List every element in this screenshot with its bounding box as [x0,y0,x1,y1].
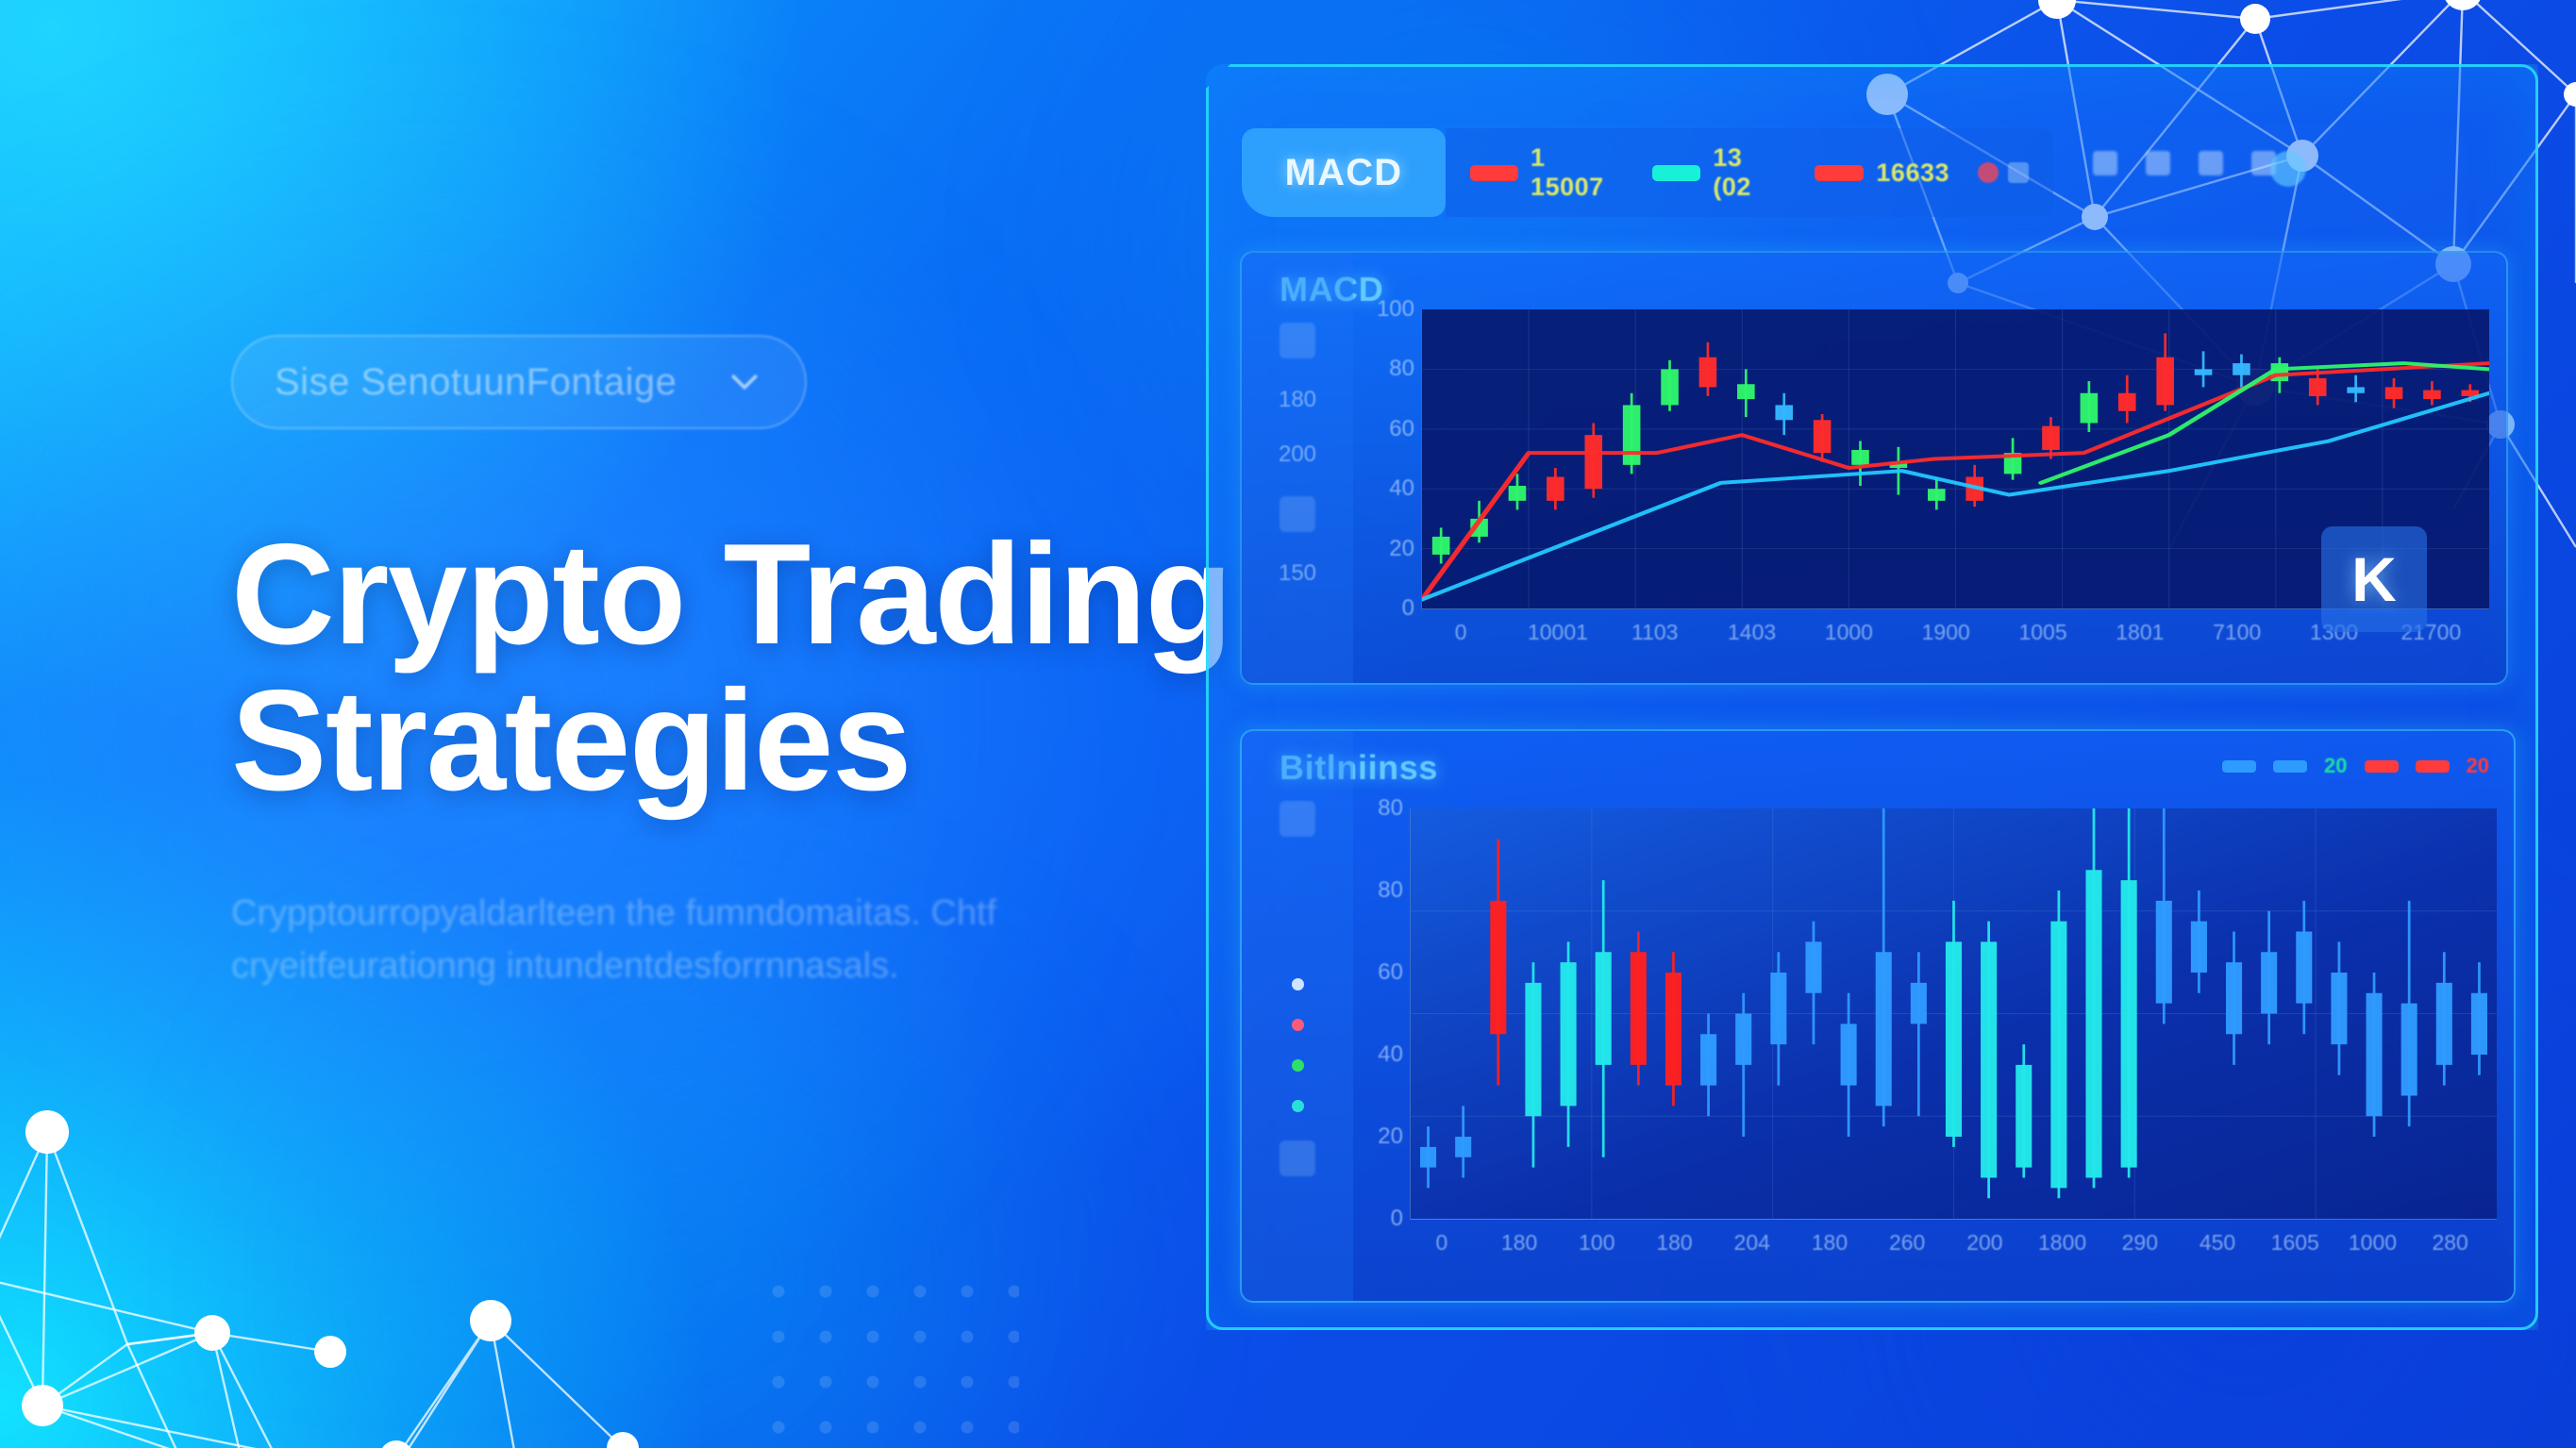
page-subtitle: Crypptourropyaldarlteen the fumndomaitas… [231,888,1052,992]
caret-left-icon[interactable] [2199,151,2223,175]
axis-tick-label: 60 [1389,416,1414,442]
axis-tick-label: 200 [1966,1230,2002,1256]
symbol-badge-k-label: K [2351,543,2397,615]
axis-tick-label: 80 [1378,795,1403,822]
trading-dashboard: MACD 1 15007 13 (02 16633 [1206,64,2538,1330]
panel-macd-sidebar: 180 200 150 [1242,253,1353,683]
toolbar-legend-item: 1 15007 [1470,143,1624,202]
toolbar-legend-strip: 1 15007 13 (02 16633 [1446,128,2053,217]
legend-swatch [2273,760,2307,773]
chart-icon[interactable] [1280,1140,1315,1176]
bg-glow-bottom-left [113,924,1246,1448]
axis-tick-label: 1900 [1922,620,1970,645]
sidebar-value: 200 [1279,441,1316,468]
legend-swatch [2222,760,2256,773]
axis-tick-label: 1103 [1631,620,1678,645]
axis-tick-label: 40 [1389,475,1414,502]
axis-tick-label: 80 [1378,877,1403,904]
axis-tick-label: 1801 [2116,620,2164,645]
legend-swatch [1815,165,1864,181]
axis-tick-label: 180 [1812,1230,1848,1256]
axis-tick-label: 100 [1377,296,1414,323]
legend-swatch [1470,165,1518,181]
page-subtitle-line-2: cryeitfeurationng intundentdesforrnnasal… [231,940,1052,992]
category-dropdown-label: Sise SenotuunFontaige [275,361,726,404]
poster-canvas: Sise SenotuunFontaige Crypto Trading Str… [0,0,2576,1448]
legend-value: 20 [2467,754,2489,778]
panel-volume: Bitlniinss 20 20 80806040200 01801001802 [1240,729,2516,1303]
toolbar-control-icons [2093,151,2276,175]
dot-grid-pattern [755,1269,1019,1439]
axis-tick-label: 0 [1435,1230,1447,1256]
square-icon[interactable] [2008,162,2029,183]
legend-value: 16633 [1876,158,1949,188]
node-network-bottom-left [0,1080,717,1448]
axis-tick-label: 260 [1889,1230,1925,1256]
axis-tick-label: 290 [2122,1230,2158,1256]
panel-volume-sidebar [1242,731,1353,1301]
axis-tick-label: 100 [1579,1230,1614,1256]
legend-value: 20 [2324,754,2347,778]
sidebar-value: 150 [1279,560,1316,587]
axis-tick-label: 1005 [2018,620,2066,645]
legend-value: 1 15007 [1531,143,1624,202]
toolbar-legend-item: 13 (02 [1652,143,1786,202]
dot-icon[interactable] [1978,162,1999,183]
toolbar-legend-item: 16633 [1815,158,1949,188]
axis-tick-label: 450 [2200,1230,2235,1256]
cloud-icon[interactable] [2146,151,2170,175]
macd-y-axis: 100806040200 [1358,309,1414,608]
legend-swatch [1652,165,1700,181]
axis-tick-label: 0 [1455,620,1467,645]
axis-tick-label: 80 [1389,356,1414,382]
caret-left-icon[interactable] [2093,151,2117,175]
axis-tick-label: 0 [1391,1206,1403,1232]
axis-tick-label: 280 [2432,1230,2467,1256]
tab-macd-label: MACD [1285,152,1403,194]
category-dropdown[interactable]: Sise SenotuunFontaige [231,335,807,429]
axis-tick-label: 0 [1402,595,1414,622]
toolbar-icon-group [1978,162,2029,183]
page-subtitle-line-1: Crypptourropyaldarlteen the fumndomaitas… [231,888,1052,940]
panel-macd: MACD 180 200 150 100806040200 0100011103… [1240,251,2508,685]
chevron-down-icon [726,363,763,401]
axis-tick-label: 40 [1378,1041,1403,1068]
menu-icon[interactable] [1280,801,1315,837]
panel-volume-legend: 20 20 [2222,754,2489,778]
legend-swatch [2416,760,2450,773]
legend-swatch [2365,760,2399,773]
axis-tick-label: 1800 [2038,1230,2086,1256]
status-dot-icon [1292,978,1304,990]
axis-tick-label: 1605 [2271,1230,2319,1256]
axis-tick-label: 60 [1378,959,1403,986]
status-dot-icon [1292,1100,1304,1112]
volume-plot-area: 80806040200 0180100180204180260200180029… [1410,808,2497,1220]
axis-tick-label: 180 [1656,1230,1692,1256]
axis-tick-label: 20 [1378,1123,1403,1150]
axis-tick-label: 10001 [1528,620,1588,645]
status-dot-icon [1292,1059,1304,1072]
volume-x-axis: 0180100180204180260200180029045016051000… [1411,1230,2497,1268]
status-dot-icon [1292,1019,1304,1031]
chart-icon[interactable] [1280,496,1315,532]
tab-macd[interactable]: MACD [1242,128,1446,217]
sidebar-value: 180 [1279,387,1316,413]
axis-tick-label: 7100 [2213,620,2261,645]
volume-candlestick-chart [1411,808,2497,1219]
status-dot-icon [2270,151,2306,187]
axis-tick-label: 180 [1501,1230,1537,1256]
axis-tick-label: 20 [1389,536,1414,562]
axis-tick-label: 1403 [1728,620,1776,645]
symbol-badge-k: K [2321,526,2427,632]
legend-value: 13 (02 [1713,143,1786,202]
volume-y-axis: 80806040200 [1347,808,1403,1219]
axis-tick-label: 1000 [1825,620,1873,645]
axis-tick-label: 204 [1734,1230,1770,1256]
dashboard-toolbar: MACD 1 15007 13 (02 16633 [1242,128,2053,217]
axis-tick-label: 1000 [2349,1230,2397,1256]
menu-icon[interactable] [1280,323,1315,358]
